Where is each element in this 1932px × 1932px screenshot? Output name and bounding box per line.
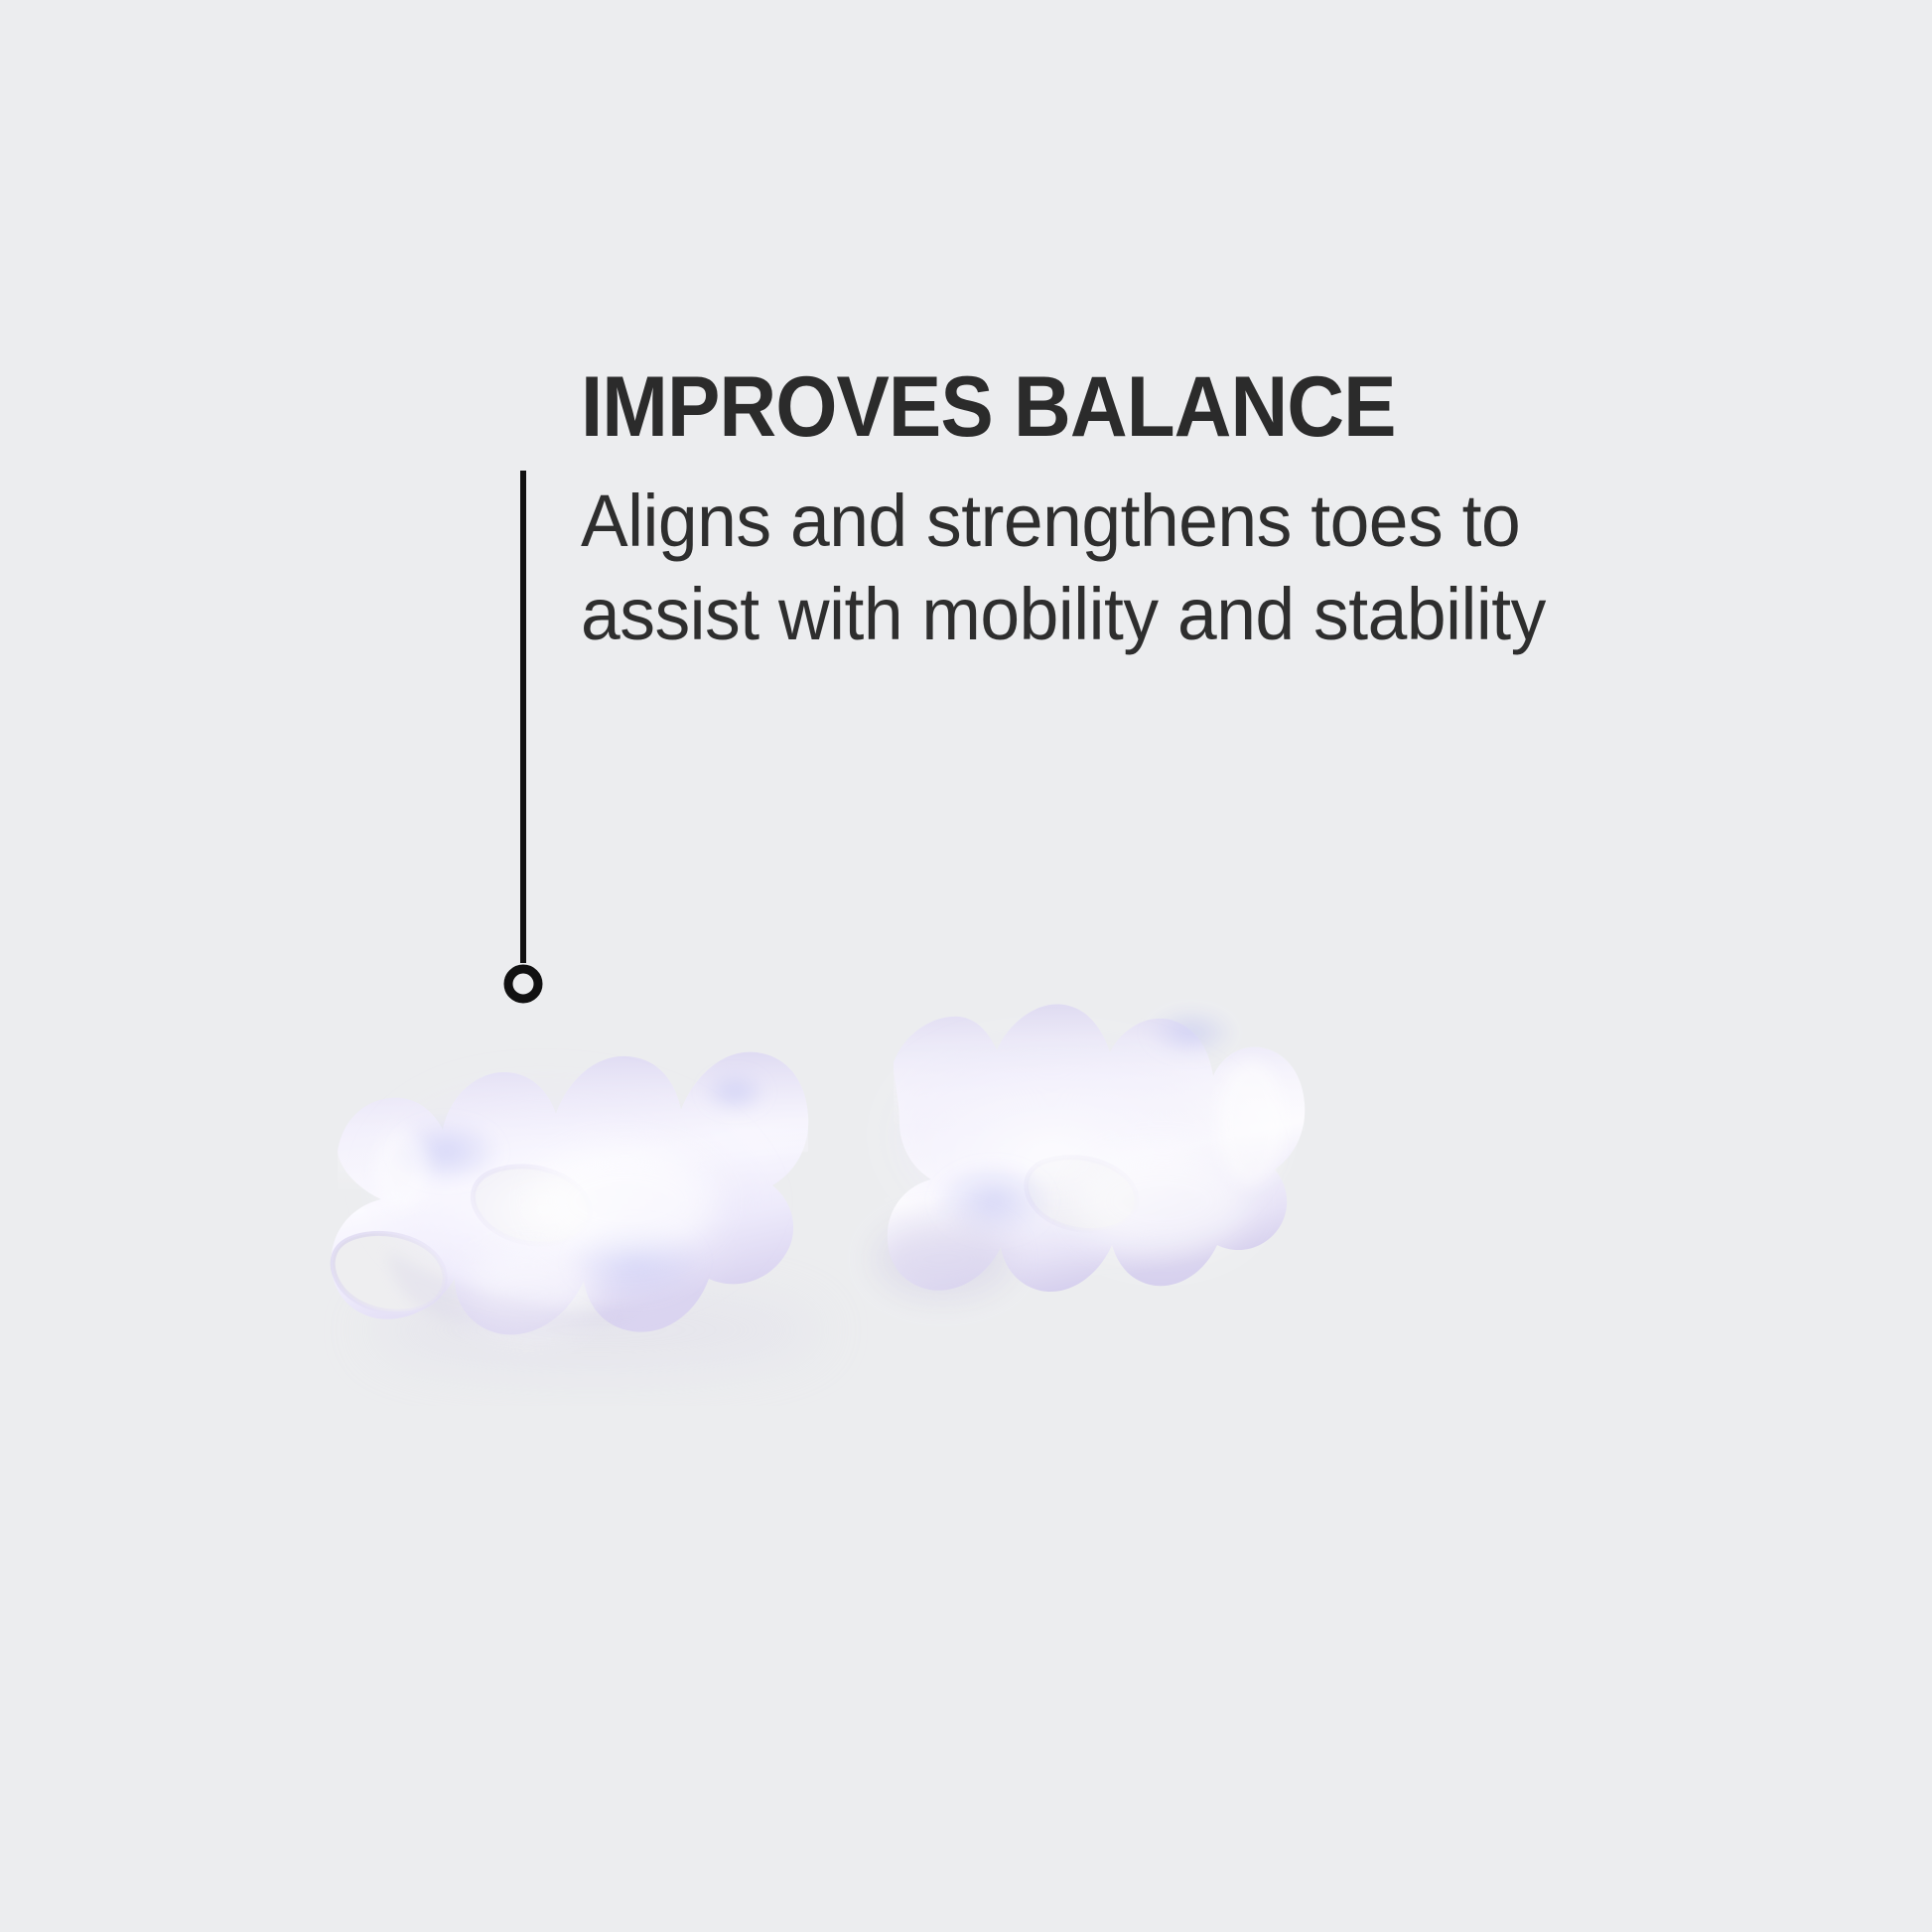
infographic-canvas: IMPROVES BALANCE Aligns and strengthens … [0, 0, 1932, 1932]
callout-description-line-1: Aligns and strengthens toes to [581, 475, 1778, 567]
right-separator-highlight-1 [1074, 1148, 1249, 1255]
left-separator-highlight-1 [534, 1146, 717, 1257]
callout-description-line-2: assist with mobility and stability [581, 568, 1778, 660]
page-title: IMPROVES BALANCE [581, 365, 1735, 449]
right-separator-shadow [874, 1219, 1013, 1299]
right-separator-cool-reflection-1 [1146, 1007, 1237, 1058]
product-image [298, 735, 1628, 1430]
left-separator-cool-reflection-3 [701, 1070, 768, 1114]
callout-text-block: IMPROVES BALANCE Aligns and strengthens … [581, 365, 1822, 660]
toe-separator-right [874, 1005, 1305, 1299]
left-separator-highlight-3 [373, 1130, 429, 1209]
toe-separators-illustration [298, 735, 1628, 1430]
toe-separator-left [331, 1052, 824, 1372]
callout-description: Aligns and strengthens toes to assist wi… [581, 475, 1778, 659]
right-separator-highlight-2 [1217, 1060, 1285, 1187]
